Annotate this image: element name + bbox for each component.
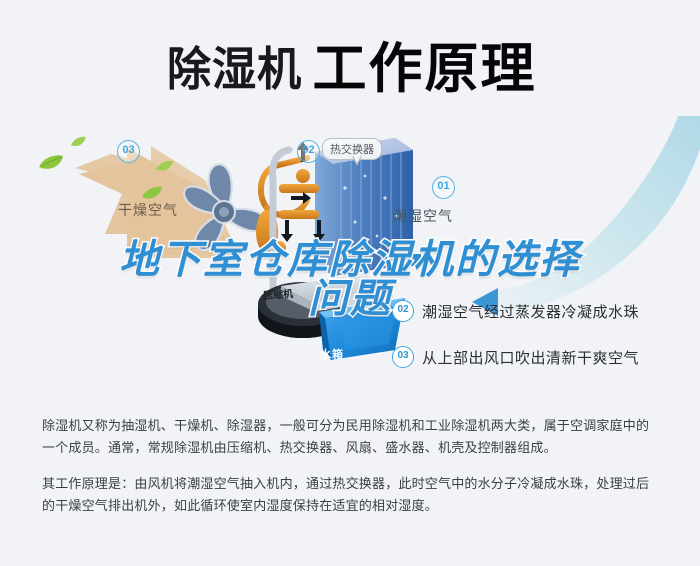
label-dry-air: 干燥空气	[118, 200, 178, 220]
legend-item: 03 从上部出风口吹出清新干爽空气	[392, 346, 692, 368]
paragraph-spacer	[42, 460, 662, 474]
page-title-part2: 工作原理	[313, 42, 537, 96]
legend-badge-02: 02	[392, 300, 414, 322]
legend-text-03: 从上部出风口吹出清新干爽空气	[422, 347, 639, 368]
label-humid-air: 潮湿空气	[393, 206, 453, 226]
legend-item: 02 潮湿空气经过蒸发器冷凝成水珠	[392, 300, 692, 322]
body-paragraph-1: 除湿机又称为抽湿机、干燥机、除湿器，一般可分为民用除湿机和工业除湿机两大类，属于…	[42, 416, 662, 460]
page-title: 除湿机 工作原理	[0, 30, 700, 108]
page-title-part1: 除湿机	[166, 46, 301, 92]
label-water-tank: 水箱	[320, 346, 344, 362]
diagram-badge-02: 02	[297, 140, 320, 163]
leaf-icon	[71, 136, 86, 148]
body-copy: 除湿机又称为抽湿机、干燥机、除湿器，一般可分为民用除湿机和工业除湿机两大类，属于…	[42, 416, 662, 518]
leaf-icon	[142, 186, 162, 201]
diagram-badge-03: 03	[117, 140, 140, 163]
legend-badge-03: 03	[392, 346, 414, 368]
diagram-badge-01: 01	[432, 176, 455, 199]
body-paragraph-2: 其工作原理是：由风机将潮湿空气抽入机内，通过热交换器，此时空气中的水分子冷凝成水…	[42, 474, 662, 518]
infographic-page: 除湿机 工作原理	[0, 0, 700, 566]
legend-text-02: 潮湿空气经过蒸发器冷凝成水珠	[422, 301, 639, 322]
leaf-icon	[38, 154, 64, 172]
label-compressor: 压缩机	[263, 285, 294, 302]
callout-pointer-icon	[352, 156, 362, 166]
legend-list: 02 潮湿空气经过蒸发器冷凝成水珠 03 从上部出风口吹出清新干爽空气	[392, 300, 692, 392]
